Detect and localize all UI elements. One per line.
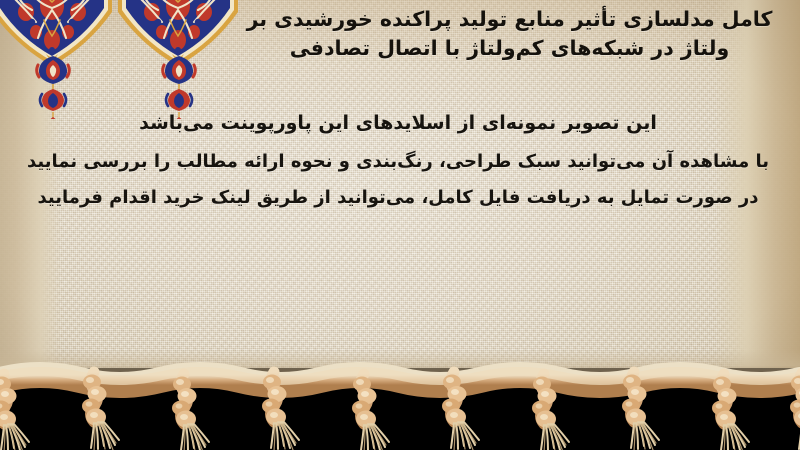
carpet-fringe-zone — [0, 350, 800, 450]
slide-body-line-3: در صورت تمایل به دریافت فایل کامل، می‌تو… — [18, 187, 778, 208]
slide-title-line-1: کامل مدلسازی تأثیر منابع تولید پراکنده خ… — [237, 6, 782, 33]
slide-canvas: کامل مدلسازی تأثیر منابع تولید پراکنده خ… — [0, 0, 800, 450]
slide-title-line-2: ولتاژ در شبکه‌های کم‌ولتاژ با اتصال تصاد… — [237, 35, 782, 62]
slide-body-line-2: با مشاهده آن می‌توانید سبک طراحی، رنگ‌بن… — [18, 151, 778, 172]
slide-body-line-1: این تصویر نمونه‌ای از اسلایدهای این پاور… — [18, 112, 778, 134]
slide-title: کامل مدلسازی تأثیر منابع تولید پراکنده خ… — [237, 6, 782, 61]
slide-body: این تصویر نمونه‌ای از اسلایدهای این پاور… — [18, 112, 778, 208]
knotted-carpet-fringe — [0, 350, 800, 450]
